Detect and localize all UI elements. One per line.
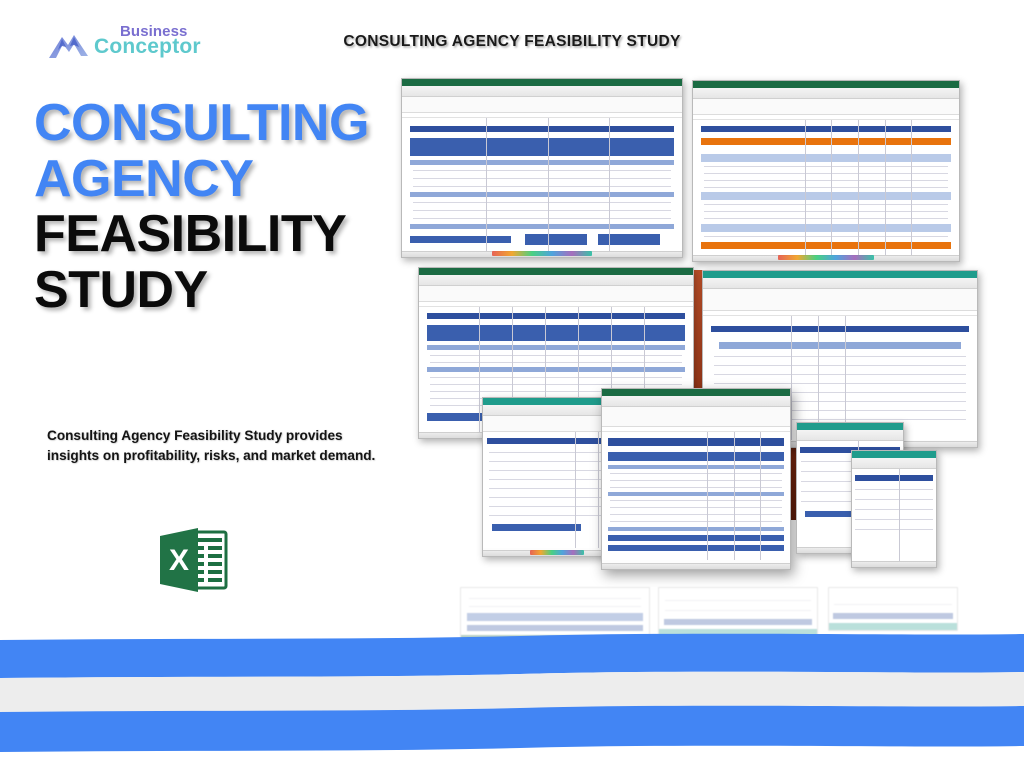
page-header-title: CONSULTING AGENCY FEASIBILITY STUDY bbox=[0, 33, 1024, 51]
status-bar bbox=[602, 563, 790, 569]
svg-text:X: X bbox=[169, 544, 189, 577]
excel-icon: X bbox=[158, 524, 228, 596]
window-titlebar bbox=[797, 423, 903, 430]
window-tabstrip bbox=[419, 275, 693, 286]
footer-wave bbox=[0, 608, 1024, 768]
status-bar bbox=[402, 251, 682, 257]
spreadsheet-grid[interactable] bbox=[602, 432, 790, 560]
screenshot-collage bbox=[396, 70, 996, 615]
status-bar bbox=[852, 561, 936, 567]
window-titlebar bbox=[693, 81, 959, 88]
window-titlebar bbox=[703, 271, 977, 278]
status-bar bbox=[693, 255, 959, 261]
hero-line-feasibility: FEASIBILITY bbox=[34, 207, 434, 263]
hero-line-consulting: CONSULTING bbox=[34, 96, 434, 152]
window-summary[interactable] bbox=[851, 450, 937, 568]
hero-subtitle: Consulting Agency Feasibility Study prov… bbox=[47, 426, 377, 466]
window-titlebar bbox=[419, 268, 693, 275]
spreadsheet-grid[interactable] bbox=[693, 120, 959, 256]
window-titlebar bbox=[402, 79, 682, 86]
hero-title-block: CONSULTING AGENCY FEASIBILITY STUDY bbox=[34, 96, 434, 319]
window-financing-plan[interactable] bbox=[692, 80, 960, 262]
taskbar-tray bbox=[778, 255, 874, 260]
window-tabstrip bbox=[402, 86, 682, 97]
window-tabstrip bbox=[693, 88, 959, 99]
taskbar-tray bbox=[492, 251, 593, 256]
window-tabstrip bbox=[852, 458, 936, 469]
window-titlebar bbox=[852, 451, 936, 458]
window-revenue-calc[interactable] bbox=[401, 78, 683, 258]
window-ribbon bbox=[693, 99, 959, 115]
taskbar-tray bbox=[530, 550, 583, 555]
window-tabstrip bbox=[703, 278, 977, 289]
window-ribbon bbox=[402, 97, 682, 113]
window-tabstrip bbox=[602, 396, 790, 407]
window-ribbon bbox=[703, 289, 977, 311]
window-income-statement[interactable] bbox=[601, 388, 791, 570]
spreadsheet-grid[interactable] bbox=[852, 469, 936, 563]
window-ribbon bbox=[602, 407, 790, 427]
hero-line-agency: AGENCY bbox=[34, 152, 434, 208]
window-titlebar bbox=[602, 389, 790, 396]
window-tabstrip bbox=[797, 430, 903, 441]
window-ribbon bbox=[419, 286, 693, 302]
spreadsheet-grid[interactable] bbox=[402, 118, 682, 252]
hero-line-study: STUDY bbox=[34, 263, 434, 319]
